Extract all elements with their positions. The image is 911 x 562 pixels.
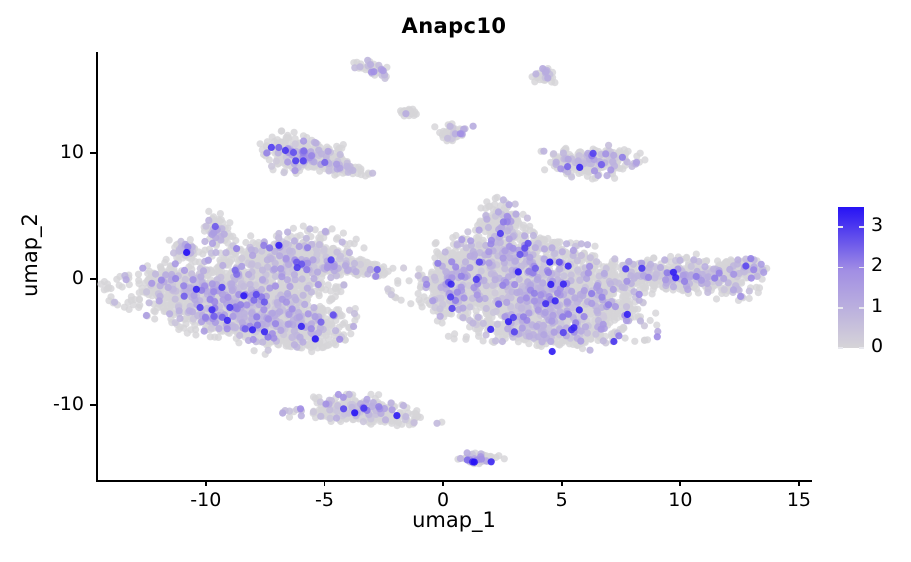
- scatter-point: [251, 347, 258, 354]
- umap-figure: Anapc10 -10-5051015100-10 umap_1 umap_2 …: [0, 0, 911, 562]
- scatter-point: [327, 295, 334, 302]
- scatter-point: [205, 208, 212, 215]
- scatter-point: [406, 277, 413, 284]
- scatter-point: [315, 290, 322, 297]
- scatter-point: [407, 300, 414, 307]
- scatter-point: [235, 339, 242, 346]
- scatter-point: [322, 286, 329, 293]
- scatter-point: [421, 293, 428, 300]
- page-title: Anapc10: [96, 14, 812, 38]
- scatter-point: [332, 283, 339, 290]
- scatter-point: [351, 240, 358, 247]
- scatter-point: [300, 223, 307, 230]
- scatter-point: [119, 283, 126, 290]
- scatter-point: [330, 340, 337, 347]
- scatter-point: [347, 330, 354, 337]
- scatter-point: [452, 232, 459, 239]
- scatter-point: [631, 338, 638, 345]
- scatter-point: [308, 348, 315, 355]
- scatter-point: [433, 248, 440, 255]
- scatter-point: [611, 313, 618, 320]
- scatter-point: [217, 210, 224, 217]
- scatter-point: [103, 285, 110, 292]
- scatter-point: [713, 295, 720, 302]
- scatter-point: [340, 230, 347, 237]
- scatter-point: [152, 308, 159, 315]
- scatter-point: [324, 342, 331, 349]
- scatter-point: [432, 240, 439, 247]
- scatter-point: [151, 315, 158, 322]
- scatter-point: [642, 283, 649, 290]
- scatter-point: [163, 256, 170, 263]
- scatter-point: [166, 237, 173, 244]
- scatter-point: [207, 333, 214, 340]
- scatter-point: [128, 297, 135, 304]
- scatter-point: [746, 295, 753, 302]
- scatter-point: [192, 331, 199, 338]
- scatter-point: [97, 281, 104, 288]
- scatter-point: [247, 232, 254, 239]
- scatter-point: [653, 322, 660, 329]
- scatter-point: [216, 217, 223, 224]
- plot-axes: -10-5051015100-10: [96, 52, 812, 482]
- scatter-point: [165, 299, 172, 306]
- plot-area: [96, 52, 812, 482]
- scatter-point: [360, 244, 367, 251]
- scatter-point: [647, 317, 654, 324]
- scatter-point: [317, 303, 324, 310]
- scatter-point: [649, 290, 656, 297]
- scatter-point: [631, 305, 638, 312]
- scatter-points: [96, 52, 812, 482]
- scatter-point: [187, 262, 194, 269]
- scatter-point: [135, 277, 142, 284]
- scatter-point: [591, 243, 598, 250]
- scatter-point: [641, 337, 648, 344]
- scatter-point: [394, 277, 401, 284]
- scatter-point: [652, 310, 659, 317]
- scatter-point: [175, 326, 182, 333]
- scatter-point: [135, 271, 142, 278]
